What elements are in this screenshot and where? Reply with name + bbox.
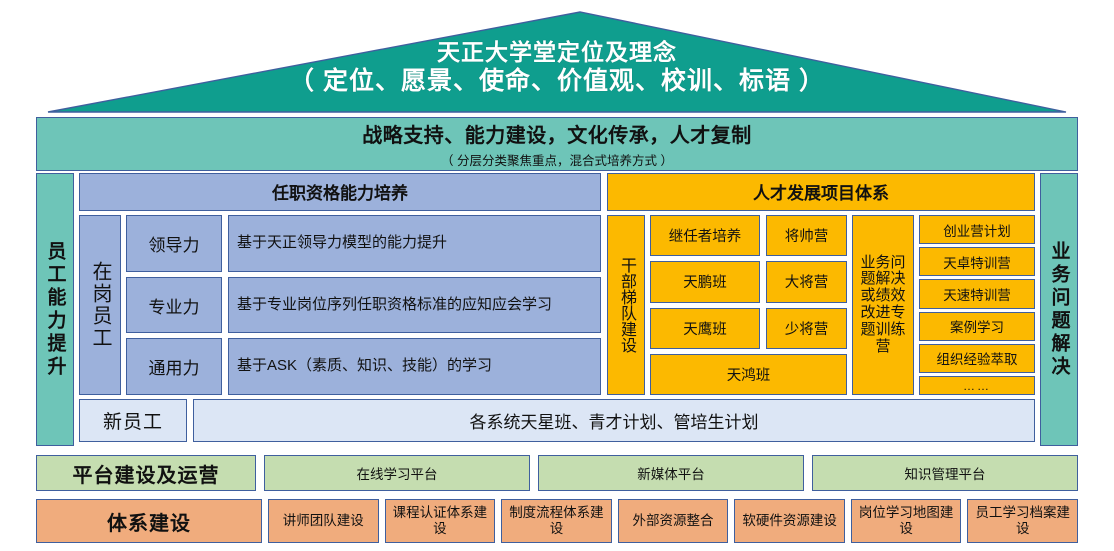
program-item[interactable]: 案例学习 (919, 312, 1035, 341)
platform-row: 平台建设及运营 在线学习平台 新媒体平台 知识管理平台 (36, 455, 1078, 491)
strategy-band-main: 战略支持、能力建设，文化传承，人才复制 (362, 119, 752, 148)
onjob-employee-tag: 在岗员工 (79, 215, 121, 395)
new-employee-content[interactable]: 各系统天星班、青才计划、管培生计划 (193, 399, 1035, 442)
capability-rows: 领导力 基于天正领导力模型的能力提升 专业力 基于专业岗位序列任职资格标准的应知… (126, 215, 601, 395)
program-item[interactable]: 组织经验萃取 (919, 344, 1035, 373)
program-item-ellipsis: …… (919, 376, 1035, 395)
program-item[interactable]: 创业营计划 (919, 215, 1035, 244)
cadre-ladder-row: 继任者培养 将帅营 (650, 215, 847, 256)
upper-row: 任职资格能力培养 在岗员工 领导力 基于天正领导力模型的能力提升 专业力 基于专… (79, 173, 1035, 395)
system-row: 体系建设 讲师团队建设 课程认证体系建设 制度流程体系建设 外部资源整合 软硬件… (36, 499, 1078, 543)
cadre-ladder-row: 天鹰班 少将营 (650, 308, 847, 349)
new-employee-tag: 新员工 (79, 399, 187, 442)
platform-row-head: 平台建设及运营 (36, 455, 256, 491)
system-item[interactable]: 外部资源整合 (618, 499, 729, 543)
capability-description: 基于专业岗位序列任职资格标准的应知应会学习 (228, 277, 601, 334)
cadre-program-full[interactable]: 天鸿班 (650, 354, 847, 395)
cadre-ladder-grid: 继任者培养 将帅营 天鹏班 大将营 天鹰班 少将营 (650, 215, 847, 395)
left-pillar: 员工能力提升 (36, 173, 74, 446)
platform-item[interactable]: 新媒体平台 (538, 455, 804, 491)
capability-name[interactable]: 通用力 (126, 338, 222, 395)
system-item[interactable]: 岗位学习地图建设 (851, 499, 962, 543)
qualification-panel: 任职资格能力培养 在岗员工 领导力 基于天正领导力模型的能力提升 专业力 基于专… (79, 173, 601, 395)
capability-row: 通用力 基于ASK（素质、知识、技能）的学习 (126, 338, 601, 395)
main-body: 员工能力提升 任职资格能力培养 在岗员工 领导力 基于天正领导力模型的能力提升 (36, 173, 1078, 446)
capability-name[interactable]: 专业力 (126, 277, 222, 334)
cadre-program[interactable]: 继任者培养 (650, 215, 760, 256)
right-pillar: 业务问题解决 (1040, 173, 1078, 446)
cadre-echelon-tag: 干部梯队建设 (607, 215, 645, 395)
roof-polygon-svg (40, 8, 1074, 116)
platform-item[interactable]: 在线学习平台 (264, 455, 530, 491)
strategy-band-sub: （ 分层分类聚焦重点，混合式培养方式 ） (441, 150, 673, 169)
diagram-root: 天正大学堂定位及理念 （ 定位、愿景、使命、价值观、校训、标语 ） 战略支持、能… (0, 0, 1114, 551)
capability-row: 领导力 基于天正领导力模型的能力提升 (126, 215, 601, 272)
center-column: 任职资格能力培养 在岗员工 领导力 基于天正领导力模型的能力提升 专业力 基于专… (79, 173, 1035, 446)
cadre-camp[interactable]: 将帅营 (766, 215, 847, 256)
system-item[interactable]: 课程认证体系建设 (385, 499, 496, 543)
cadre-camp[interactable]: 少将营 (766, 308, 847, 349)
cadre-program[interactable]: 天鹰班 (650, 308, 760, 349)
cadre-ladder-row-full: 天鸿班 (650, 354, 847, 395)
qualification-panel-body: 在岗员工 领导力 基于天正领导力模型的能力提升 专业力 基于专业岗位序列任职资格… (79, 215, 601, 395)
system-item[interactable]: 员工学习档案建设 (967, 499, 1078, 543)
platform-item[interactable]: 知识管理平台 (812, 455, 1078, 491)
capability-name[interactable]: 领导力 (126, 215, 222, 272)
topic-training-camp-tag: 业务问题解决或绩效改进专题训练营 (852, 215, 914, 395)
strategy-band: 战略支持、能力建设，文化传承，人才复制 （ 分层分类聚焦重点，混合式培养方式 ） (36, 117, 1078, 171)
capability-row: 专业力 基于专业岗位序列任职资格标准的应知应会学习 (126, 277, 601, 334)
cadre-ladder-row: 天鹏班 大将营 (650, 261, 847, 302)
cadre-camp[interactable]: 大将营 (766, 261, 847, 302)
talent-panel: 人才发展项目体系 干部梯队建设 继任者培养 将帅营 天鹏班 大将营 (607, 173, 1035, 395)
system-item[interactable]: 讲师团队建设 (268, 499, 379, 543)
capability-description: 基于ASK（素质、知识、技能）的学习 (228, 338, 601, 395)
system-item[interactable]: 制度流程体系建设 (501, 499, 612, 543)
qualification-panel-title: 任职资格能力培养 (79, 173, 601, 211)
system-item[interactable]: 软硬件资源建设 (734, 499, 845, 543)
capability-description: 基于天正领导力模型的能力提升 (228, 215, 601, 272)
system-row-head: 体系建设 (36, 499, 262, 543)
program-item[interactable]: 天速特训营 (919, 279, 1035, 308)
roof-shape: 天正大学堂定位及理念 （ 定位、愿景、使命、价值观、校训、标语 ） (40, 8, 1074, 116)
program-list: 创业营计划 天卓特训营 天速特训营 案例学习 组织经验萃取 …… (919, 215, 1035, 395)
cadre-program[interactable]: 天鹏班 (650, 261, 760, 302)
new-employee-row: 新员工 各系统天星班、青才计划、管培生计划 (79, 399, 1035, 442)
talent-panel-body: 干部梯队建设 继任者培养 将帅营 天鹏班 大将营 天鹰班 (607, 215, 1035, 395)
program-item[interactable]: 天卓特训营 (919, 247, 1035, 276)
talent-panel-title: 人才发展项目体系 (607, 173, 1035, 211)
